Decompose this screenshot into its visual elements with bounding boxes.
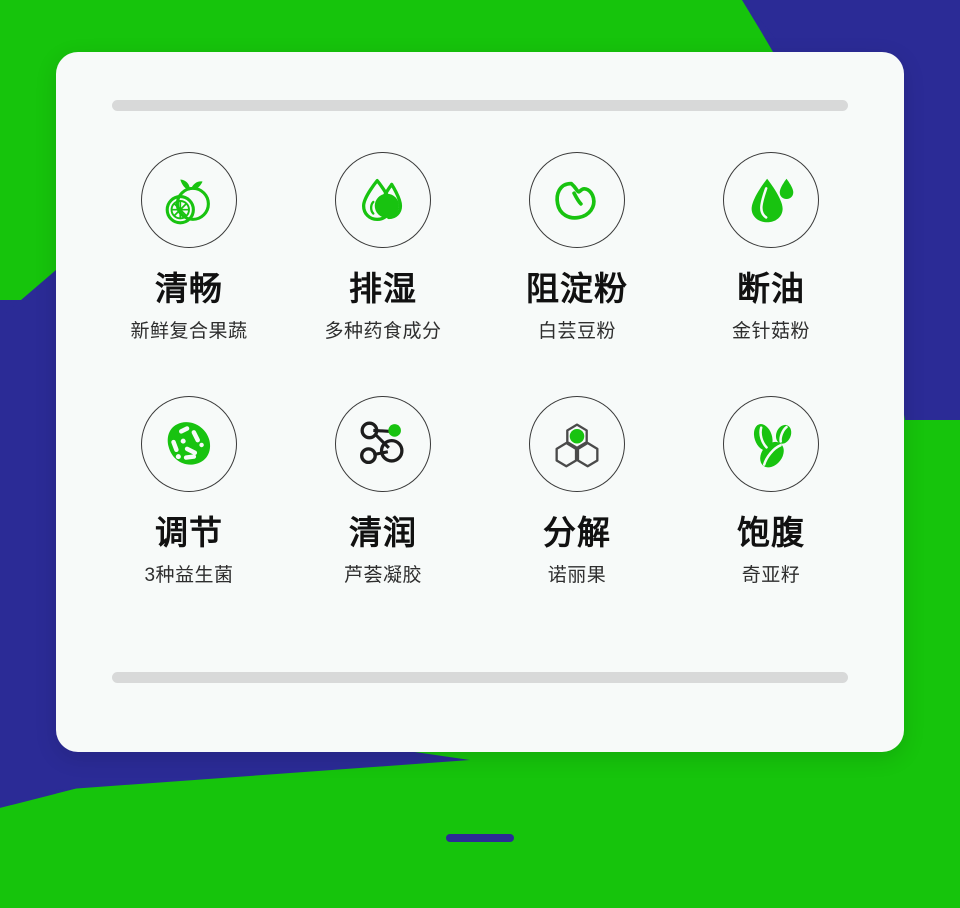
water-drop-dampness-icon xyxy=(335,152,431,248)
feature-subtitle: 新鲜复合果蔬 xyxy=(130,322,247,341)
white-kidney-bean-icon xyxy=(529,152,625,248)
feature-subtitle: 诺丽果 xyxy=(548,566,607,585)
oil-drop-icon xyxy=(723,152,819,248)
feature-item-tiaojie[interactable]: 调节 3种益生菌 xyxy=(92,396,286,640)
feature-subtitle: 金针菇粉 xyxy=(732,322,810,341)
feature-title: 排湿 xyxy=(349,272,417,305)
feature-title: 清润 xyxy=(349,516,417,549)
feature-subtitle: 多种药食成分 xyxy=(324,322,441,341)
feature-subtitle: 芦荟凝胶 xyxy=(344,566,422,585)
feature-item-qingchang[interactable]: 清畅 新鲜复合果蔬 xyxy=(92,152,286,396)
hexagon-cells-icon xyxy=(529,396,625,492)
feature-title: 阻淀粉 xyxy=(526,272,628,305)
bottom-divider xyxy=(112,672,848,683)
chia-seeds-icon xyxy=(723,396,819,492)
blue-shape-left-band xyxy=(0,300,56,805)
citrus-fruit-icon xyxy=(141,152,237,248)
feature-grid: 清畅 新鲜复合果蔬 排湿 多种药食成分 xyxy=(92,152,868,640)
top-divider xyxy=(112,100,848,111)
feature-item-duanyou[interactable]: 断油 金针菇粉 xyxy=(674,152,868,396)
feature-item-baofu[interactable]: 饱腹 奇亚籽 xyxy=(674,396,868,640)
feature-subtitle: 白芸豆粉 xyxy=(538,322,616,341)
feature-item-fenjie[interactable]: 分解 诺丽果 xyxy=(480,396,674,640)
feature-item-paishi[interactable]: 排湿 多种药食成分 xyxy=(286,152,480,396)
feature-subtitle: 奇亚籽 xyxy=(742,566,801,585)
feature-title: 清畅 xyxy=(155,272,223,305)
feature-title: 分解 xyxy=(543,516,611,549)
feature-title: 调节 xyxy=(155,516,223,549)
feature-subtitle: 3种益生菌 xyxy=(144,566,233,585)
molecule-icon xyxy=(335,396,431,492)
feature-card: 清畅 新鲜复合果蔬 排湿 多种药食成分 xyxy=(56,52,904,752)
feature-item-zudianfen[interactable]: 阻淀粉 白芸豆粉 xyxy=(480,152,674,396)
feature-item-qingrun[interactable]: 清润 芦荟凝胶 xyxy=(286,396,480,640)
feature-title: 饱腹 xyxy=(737,516,805,549)
home-indicator[interactable] xyxy=(446,834,514,842)
probiotic-bacteria-icon xyxy=(141,396,237,492)
feature-title: 断油 xyxy=(737,272,805,305)
